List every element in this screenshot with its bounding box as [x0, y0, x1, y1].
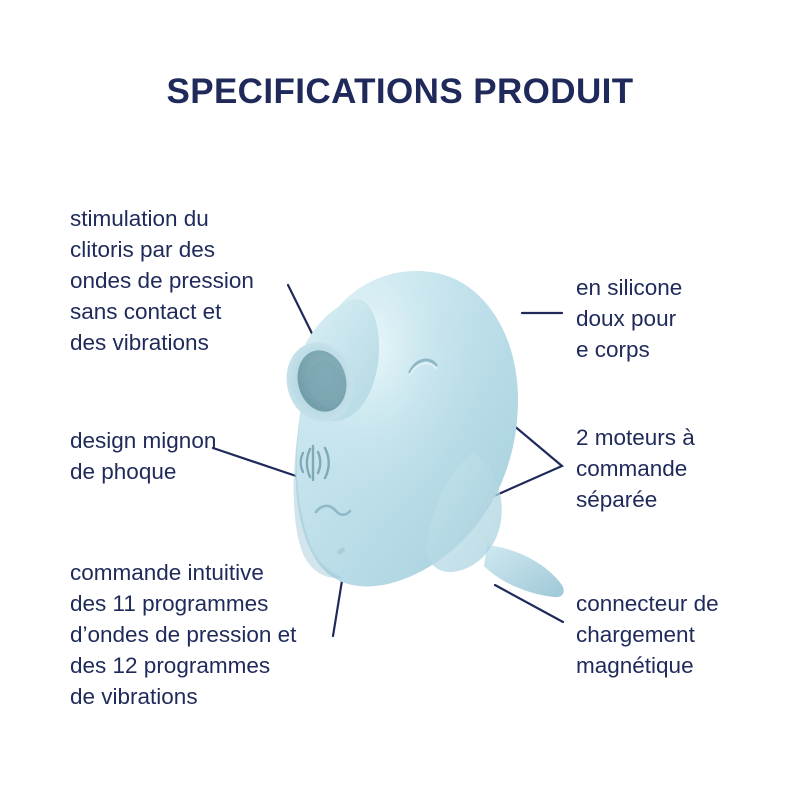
callout-moteurs: 2 moteurs à commande séparée — [576, 422, 791, 515]
tail-flipper — [484, 545, 564, 597]
seal-device — [278, 271, 563, 597]
callout-connecteur: connecteur de chargement magnétique — [576, 588, 796, 681]
product-specifications-infographic: SPECIFICATIONS PRODUIT — [0, 0, 800, 800]
callout-design: design mignon de phoque — [70, 425, 310, 487]
callout-stimulation: stimulation du clitoris par des ondes de… — [70, 203, 310, 358]
callout-commande: commande intuitive des 11 programmes d’o… — [70, 557, 345, 712]
callout-silicone: en silicone doux pour e corps — [576, 272, 791, 365]
